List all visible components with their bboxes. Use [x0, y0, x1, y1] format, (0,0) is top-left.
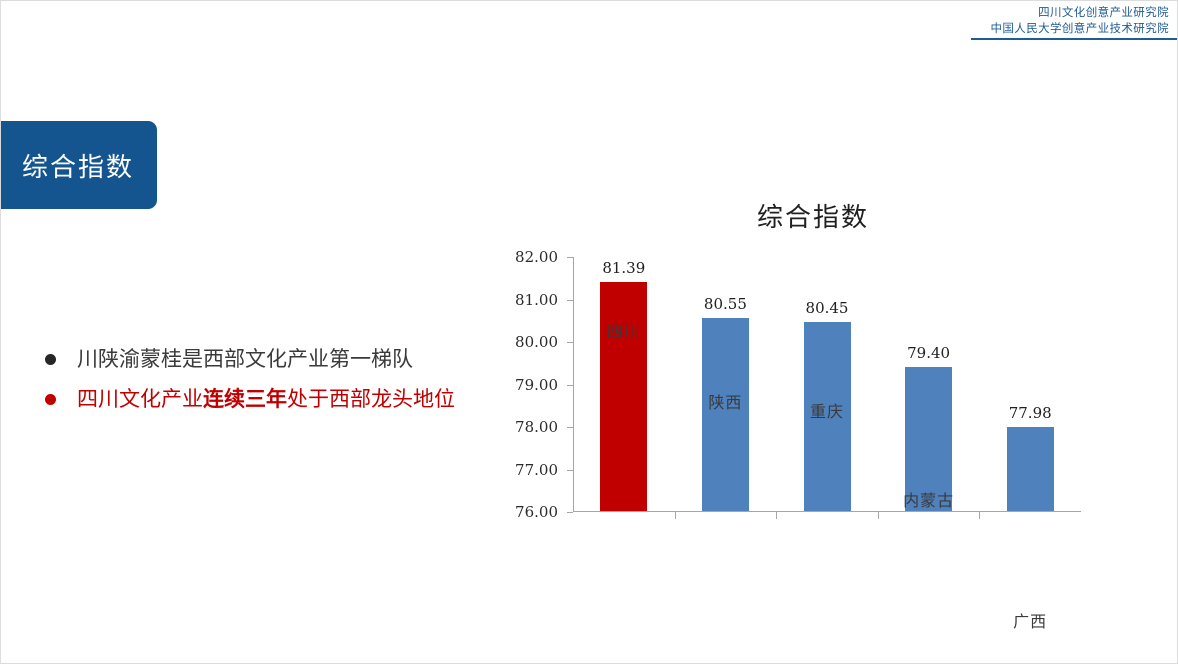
bullet-text-emphasis: 连续三年	[203, 386, 287, 411]
y-axis-tick-label: 78.00	[515, 418, 558, 436]
y-axis-tick-label: 77.00	[515, 461, 558, 479]
y-axis-tick: 82.00	[567, 257, 573, 258]
list-item: 四川文化产业连续三年处于西部龙头地位	[45, 379, 515, 419]
x-axis-category-label: 广西	[1013, 608, 1047, 632]
chart-bar-value-label: 80.55	[704, 295, 747, 313]
y-axis-tick-label: 82.00	[515, 248, 558, 266]
y-axis-tick: 78.00	[567, 427, 573, 428]
y-axis-tick-label: 80.00	[515, 333, 558, 351]
x-axis-category-label: 重庆	[810, 398, 844, 422]
x-axis-category-label: 陕西	[708, 389, 742, 413]
bullet-dot-icon	[45, 394, 56, 405]
header-institute-line-2: 中国人民大学创意产业技术研究院	[749, 20, 1169, 36]
chart-bar-rect	[702, 318, 749, 511]
chart-bar[interactable]: 77.98广西	[1007, 427, 1054, 511]
x-axis-tick	[776, 512, 777, 519]
x-axis-tick	[878, 512, 879, 519]
x-axis-category-label: 内蒙古	[903, 487, 954, 511]
x-axis-tick	[979, 512, 980, 519]
x-axis-line	[573, 511, 1081, 512]
bullet-text-primary: 川陕渝蒙桂是西部文化产业第一梯队	[77, 345, 413, 373]
x-axis-tick	[675, 512, 676, 519]
header-divider-rule	[971, 38, 1177, 40]
bullet-text-highlight: 四川文化产业连续三年处于西部龙头地位	[77, 385, 455, 413]
y-axis-tick: 77.00	[567, 470, 573, 471]
chart-bar-rect	[600, 282, 647, 511]
y-axis-tick-label: 79.00	[515, 376, 558, 394]
y-axis-tick: 79.00	[567, 385, 573, 386]
chart-bar[interactable]: 81.39四川	[600, 282, 647, 511]
list-item: 川陕渝蒙桂是西部文化产业第一梯队	[45, 339, 515, 379]
bullet-list: 川陕渝蒙桂是西部文化产业第一梯队 四川文化产业连续三年处于西部龙头地位	[45, 339, 515, 419]
chart-bar-value-label: 80.45	[806, 299, 849, 317]
y-axis-tick-label: 76.00	[515, 503, 558, 521]
chart-plot-area: 82.0081.0080.0079.0078.0077.0076.0081.39…	[573, 257, 1081, 512]
chart-bar[interactable]: 80.55陕西	[702, 318, 749, 511]
bullet-text-segment-before: 四川文化产业	[77, 387, 203, 411]
section-badge: 综合指数	[0, 121, 157, 209]
section-badge-label: 综合指数	[22, 147, 134, 184]
chart-bar-value-label: 81.39	[602, 259, 645, 277]
chart-bar-value-label: 79.40	[907, 344, 950, 362]
y-axis-tick: 81.00	[567, 300, 573, 301]
bullet-text-segment-after: 处于西部龙头地位	[287, 387, 455, 411]
chart-bar[interactable]: 79.40内蒙古	[905, 367, 952, 512]
chart-bar-value-label: 77.98	[1009, 404, 1052, 422]
y-axis-tick: 80.00	[567, 342, 573, 343]
chart-bar-rect	[1007, 427, 1054, 511]
bullet-dot-icon	[45, 354, 56, 365]
y-axis-tick: 76.00	[567, 512, 573, 513]
chart-bar[interactable]: 80.45重庆	[804, 322, 851, 511]
x-axis-category-label: 四川	[607, 318, 641, 342]
bar-chart: 综合指数 82.0081.0080.0079.0078.0077.0076.00…	[513, 197, 1113, 557]
chart-title: 综合指数	[513, 197, 1113, 234]
y-axis-tick-label: 81.00	[515, 291, 558, 309]
slide-header: 四川文化创意产业研究院 中国人民大学创意产业技术研究院	[749, 1, 1169, 36]
slide: 四川文化创意产业研究院 中国人民大学创意产业技术研究院 综合指数 川陕渝蒙桂是西…	[0, 0, 1178, 664]
y-axis-line	[573, 257, 574, 512]
header-institute-line-1: 四川文化创意产业研究院	[749, 4, 1169, 20]
